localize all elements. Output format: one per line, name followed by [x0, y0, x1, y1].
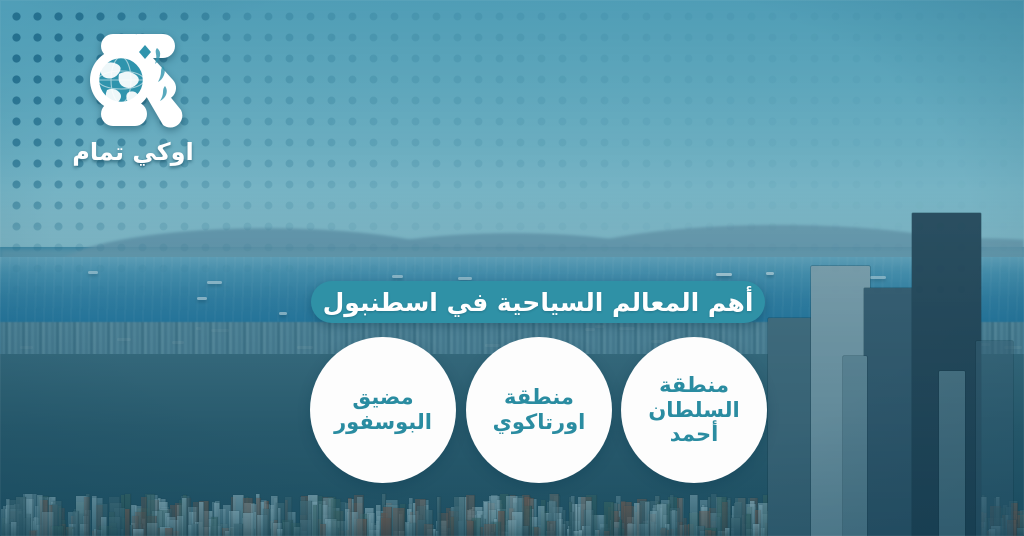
- landmark-circle-bosphorus[interactable]: مضيق البوسفور: [310, 337, 456, 483]
- landmark-circle-sultanahmet[interactable]: منطقة السلطان أحمد: [621, 337, 767, 483]
- landmark-circle-ortakoy[interactable]: منطقة اورتاكوي: [466, 337, 612, 483]
- landmark-label: مضيق البوسفور: [322, 385, 444, 435]
- landmark-circles: منطقة السلطان أحمد منطقة اورتاكوي مضيق ا…: [305, 337, 767, 489]
- brand-logo[interactable]: اوكي تمام: [72, 22, 194, 174]
- banner-canvas: اوكي تمام أهم المعالم السياحية في اسطنبو…: [0, 0, 1024, 536]
- logo-tagline: اوكي تمام: [72, 140, 193, 164]
- title-banner: أهم المعالم السياحية في اسطنبول: [311, 281, 765, 323]
- page-title: أهم المعالم السياحية في اسطنبول: [323, 290, 754, 315]
- landmark-label: منطقة السلطان أحمد: [636, 373, 751, 447]
- landmark-label: منطقة اورتاكوي: [481, 385, 598, 435]
- ok-globe-monogram-icon: [77, 22, 189, 138]
